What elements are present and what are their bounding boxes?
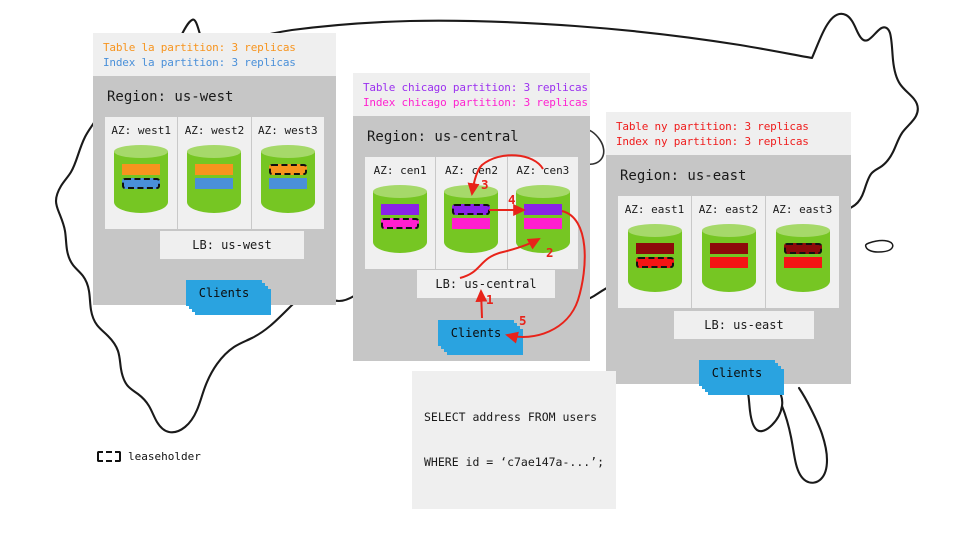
cylinder-top — [702, 224, 756, 237]
replica-cylinder-west2[interactable] — [187, 145, 241, 219]
az-label: AZ: west3 — [258, 124, 318, 137]
replica-cylinder-west1[interactable] — [114, 145, 168, 219]
arrow-number-2: 2 — [546, 245, 554, 260]
table-replica-bar — [636, 243, 674, 254]
replica-cylinder-east2[interactable] — [702, 224, 756, 298]
cylinder-top — [516, 185, 570, 198]
az-label: AZ: cen3 — [516, 164, 569, 177]
clients-us-east[interactable]: Clients — [699, 360, 775, 386]
arrow-number-3: 3 — [481, 177, 489, 192]
region-header-us-east: Table ny partition: 3 replicas Index ny … — [606, 112, 851, 155]
legend-label: leaseholder — [128, 450, 201, 463]
az-cen1[interactable]: AZ: cen1 — [365, 157, 436, 269]
index-replica-bar-leaseholder — [381, 218, 419, 229]
az-row-us-west: AZ: west1 AZ: west2 — [105, 117, 324, 229]
table-replica-bar-leaseholder — [784, 243, 822, 254]
load-balancer-us-west[interactable]: LB: us-west — [160, 231, 304, 259]
az-label: AZ: east2 — [699, 203, 759, 216]
az-west3[interactable]: AZ: west3 — [252, 117, 324, 229]
region-header-us-central: Table chicago partition: 3 replicas Inde… — [353, 73, 590, 116]
clients-label: Clients — [438, 320, 514, 346]
diagram-canvas: Table la partition: 3 replicas Index la … — [0, 0, 960, 540]
az-cen3[interactable]: AZ: cen3 — [508, 157, 578, 269]
az-east2[interactable]: AZ: east2 — [692, 196, 766, 308]
az-label: AZ: west2 — [185, 124, 245, 137]
az-east3[interactable]: AZ: east3 — [766, 196, 839, 308]
clients-us-central[interactable]: Clients — [438, 320, 514, 346]
region-body-us-east: Region: us-east AZ: east1 AZ: east2 — [606, 155, 851, 384]
az-label: AZ: cen1 — [374, 164, 427, 177]
clients-us-west[interactable]: Clients — [186, 280, 262, 306]
index-partition-label: Index la partition: 3 replicas — [103, 55, 326, 70]
region-title: Region: us-east — [620, 168, 839, 184]
dashed-rect-icon — [97, 451, 121, 462]
region-header-us-west: Table la partition: 3 replicas Index la … — [93, 33, 336, 76]
replica-cylinder-west3[interactable] — [261, 145, 315, 219]
sql-line-1: SELECT address FROM users — [424, 410, 604, 425]
index-replica-bar — [195, 178, 233, 189]
index-replica-bar — [452, 218, 490, 229]
legend-leaseholder: leaseholder — [97, 450, 201, 463]
cylinder-top — [776, 224, 830, 237]
region-title: Region: us-central — [367, 129, 578, 145]
region-panel-us-central: Table chicago partition: 3 replicas Inde… — [353, 73, 590, 361]
index-partition-label: Index chicago partition: 3 replicas — [363, 95, 580, 110]
az-cen2[interactable]: AZ: cen2 — [436, 157, 507, 269]
arrow-number-4: 4 — [508, 192, 516, 207]
table-partition-label: Table ny partition: 3 replicas — [616, 119, 841, 134]
index-replica-bar — [710, 257, 748, 268]
table-replica-bar — [710, 243, 748, 254]
load-balancer-us-east[interactable]: LB: us-east — [674, 311, 814, 339]
az-label: AZ: cen2 — [445, 164, 498, 177]
az-east1[interactable]: AZ: east1 — [618, 196, 692, 308]
arrow-number-5: 5 — [519, 313, 527, 328]
az-label: AZ: east1 — [625, 203, 685, 216]
table-replica-bar — [195, 164, 233, 175]
clients-label: Clients — [699, 360, 775, 386]
index-replica-bar-leaseholder — [122, 178, 160, 189]
replica-cylinder-cen2[interactable] — [444, 185, 498, 259]
az-row-us-east: AZ: east1 AZ: east2 — [618, 196, 839, 308]
table-partition-label: Table la partition: 3 replicas — [103, 40, 326, 55]
index-replica-bar-leaseholder — [636, 257, 674, 268]
index-replica-bar — [524, 218, 562, 229]
az-west1[interactable]: AZ: west1 — [105, 117, 178, 229]
arrow-number-1: 1 — [486, 292, 494, 307]
region-panel-us-west: Table la partition: 3 replicas Index la … — [93, 33, 336, 305]
table-replica-bar — [381, 204, 419, 215]
table-replica-bar-leaseholder — [452, 204, 490, 215]
replica-cylinder-cen3[interactable] — [516, 185, 570, 259]
index-replica-bar — [784, 257, 822, 268]
region-title: Region: us-west — [107, 89, 324, 105]
cylinder-top — [628, 224, 682, 237]
table-partition-label: Table chicago partition: 3 replicas — [363, 80, 580, 95]
az-label: AZ: west1 — [111, 124, 171, 137]
sql-line-2: WHERE id = ‘c7ae147a-...’; — [424, 455, 604, 470]
region-body-us-west: Region: us-west AZ: west1 AZ: west2 — [93, 76, 336, 305]
cylinder-top — [261, 145, 315, 158]
cylinder-top — [114, 145, 168, 158]
replica-cylinder-cen1[interactable] — [373, 185, 427, 259]
table-replica-bar-leaseholder — [269, 164, 307, 175]
replica-cylinder-east3[interactable] — [776, 224, 830, 298]
index-replica-bar — [269, 178, 307, 189]
table-replica-bar — [524, 204, 562, 215]
table-replica-bar — [122, 164, 160, 175]
az-label: AZ: east3 — [773, 203, 833, 216]
index-partition-label: Index ny partition: 3 replicas — [616, 134, 841, 149]
az-west2[interactable]: AZ: west2 — [178, 117, 251, 229]
clients-label: Clients — [186, 280, 262, 306]
sql-query-box: SELECT address FROM users WHERE id = ‘c7… — [412, 371, 616, 509]
cylinder-top — [373, 185, 427, 198]
replica-cylinder-east1[interactable] — [628, 224, 682, 298]
region-panel-us-east: Table ny partition: 3 replicas Index ny … — [606, 112, 851, 384]
